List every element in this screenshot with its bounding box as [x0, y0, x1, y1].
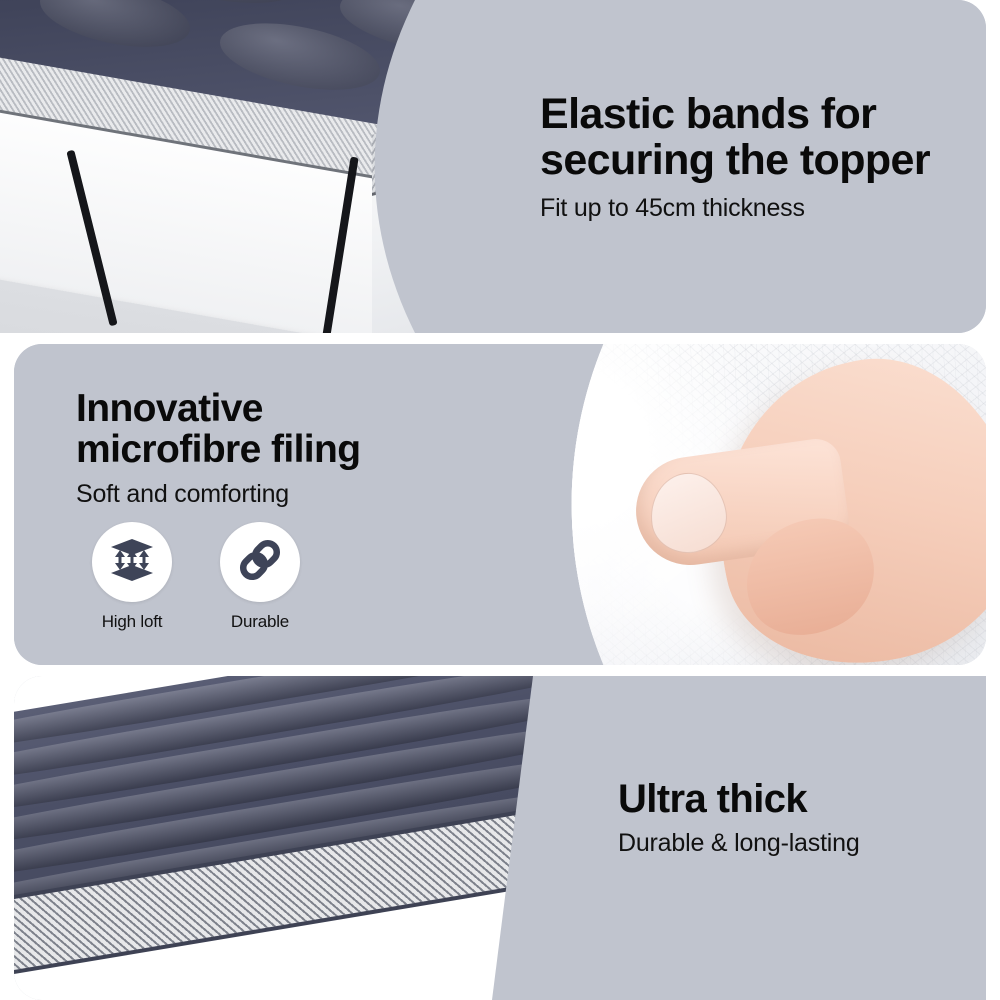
- panel-2-heading-line1: Innovative: [76, 387, 263, 430]
- panel-2-subheading: Soft and comforting: [76, 479, 516, 510]
- badge-label: High loft: [84, 612, 180, 632]
- panel-1-subheading: Fit up to 45cm thickness: [540, 193, 970, 224]
- panel-1-heading: Elastic bands for securing the topper: [540, 92, 970, 183]
- panel-1-heading-line1: Elastic bands for: [540, 90, 876, 138]
- panel-1-heading-line2: securing the topper: [540, 136, 930, 184]
- panel-microfibre-filling: Innovative microfibre filing Soft and co…: [14, 344, 986, 665]
- panel-2-heading-line2: microfibre filing: [76, 428, 361, 471]
- high-loft-icon: [107, 535, 157, 590]
- panel-2-heading: Innovative microfibre filing: [76, 388, 516, 471]
- quilted-topper-photo: [14, 676, 574, 1000]
- tuft: [40, 0, 190, 57]
- product-infographic: Elastic bands for securing the topper Fi…: [0, 0, 1000, 1000]
- badge-label: Durable: [212, 612, 308, 632]
- badge-durable: Durable: [212, 522, 308, 632]
- badge-circle: [92, 522, 172, 602]
- panel-3-subheading: Durable & long-lasting: [618, 828, 978, 859]
- feature-badges: High loft Durable: [84, 522, 308, 632]
- panel-2-text-pane: Innovative microfibre filing Soft and co…: [14, 344, 574, 665]
- panel-3-heading: Ultra thick: [618, 778, 978, 820]
- badge-circle: [220, 522, 300, 602]
- panel-ultra-thick: Ultra thick Durable & long-lasting: [14, 676, 986, 1000]
- panel-elastic-bands: Elastic bands for securing the topper Fi…: [0, 0, 986, 333]
- chain-link-icon: [236, 536, 284, 589]
- badge-high-loft: High loft: [84, 522, 180, 632]
